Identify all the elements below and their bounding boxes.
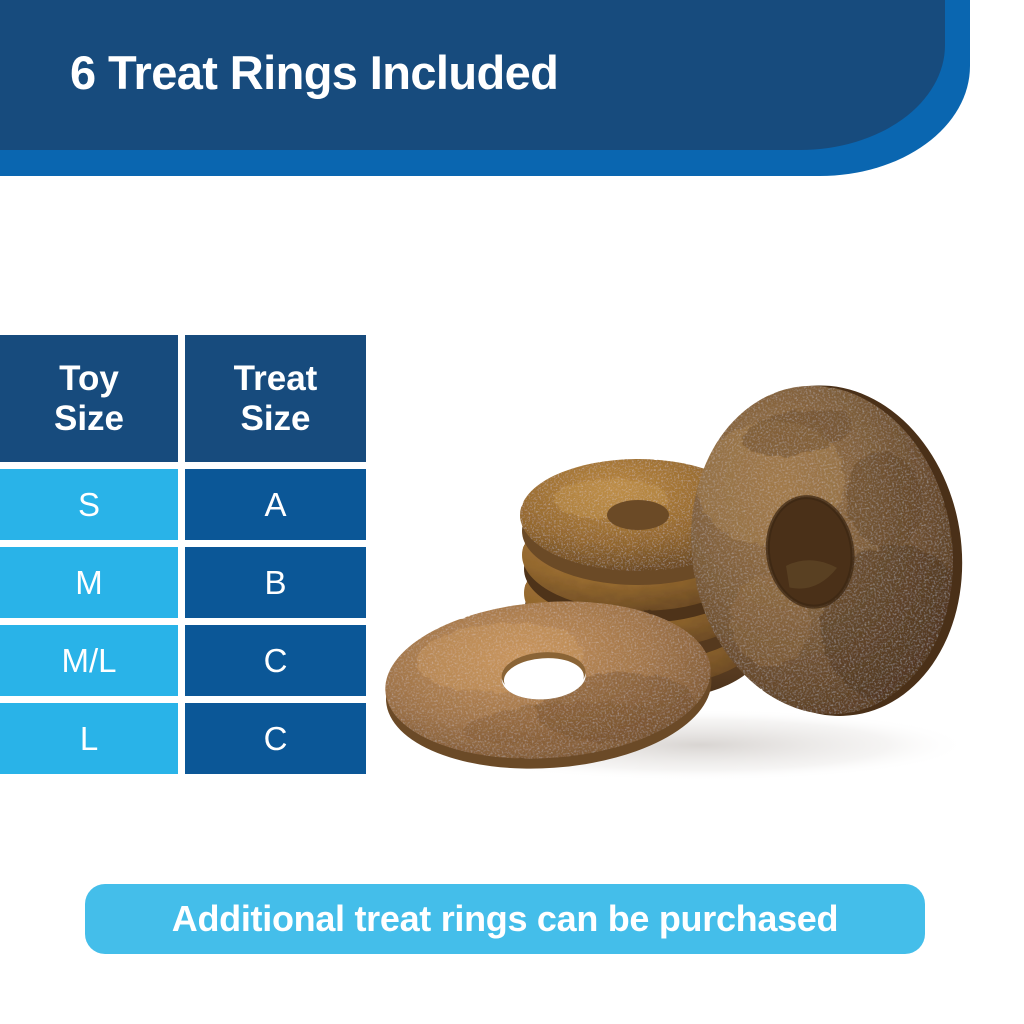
table-row: L C	[0, 703, 366, 774]
cell-toy-size: M/L	[0, 625, 178, 696]
table-header-row: Toy Size Treat Size	[0, 335, 366, 462]
treat-rings-photo	[370, 315, 1010, 785]
column-header-toy-size: Toy Size	[0, 335, 178, 462]
treat-size-header-line1: Treat	[234, 359, 318, 398]
header-banner: 6 Treat Rings Included	[0, 0, 1024, 182]
cell-treat-size: C	[185, 625, 366, 696]
table-row: S A	[0, 469, 366, 540]
footer-note-text: Additional treat rings can be purchased	[172, 898, 838, 940]
cell-toy-size: M	[0, 547, 178, 618]
product-infographic: 6 Treat Rings Included Toy Size Treat Si…	[0, 0, 1024, 1024]
table-row: M B	[0, 547, 366, 618]
cell-toy-size: L	[0, 703, 178, 774]
footer-note-banner: Additional treat rings can be purchased	[85, 884, 925, 954]
page-title: 6 Treat Rings Included	[70, 45, 558, 100]
table-row: M/L C	[0, 625, 366, 696]
toy-size-header-line1: Toy	[54, 359, 124, 398]
cell-toy-size: S	[0, 469, 178, 540]
cell-treat-size: C	[185, 703, 366, 774]
cell-treat-size: B	[185, 547, 366, 618]
size-chart-table: Toy Size Treat Size S A M B M/L C L	[0, 335, 366, 774]
toy-size-header-line2: Size	[54, 399, 124, 438]
column-header-treat-size: Treat Size	[185, 335, 366, 462]
treat-size-header-line2: Size	[234, 399, 318, 438]
cell-treat-size: A	[185, 469, 366, 540]
